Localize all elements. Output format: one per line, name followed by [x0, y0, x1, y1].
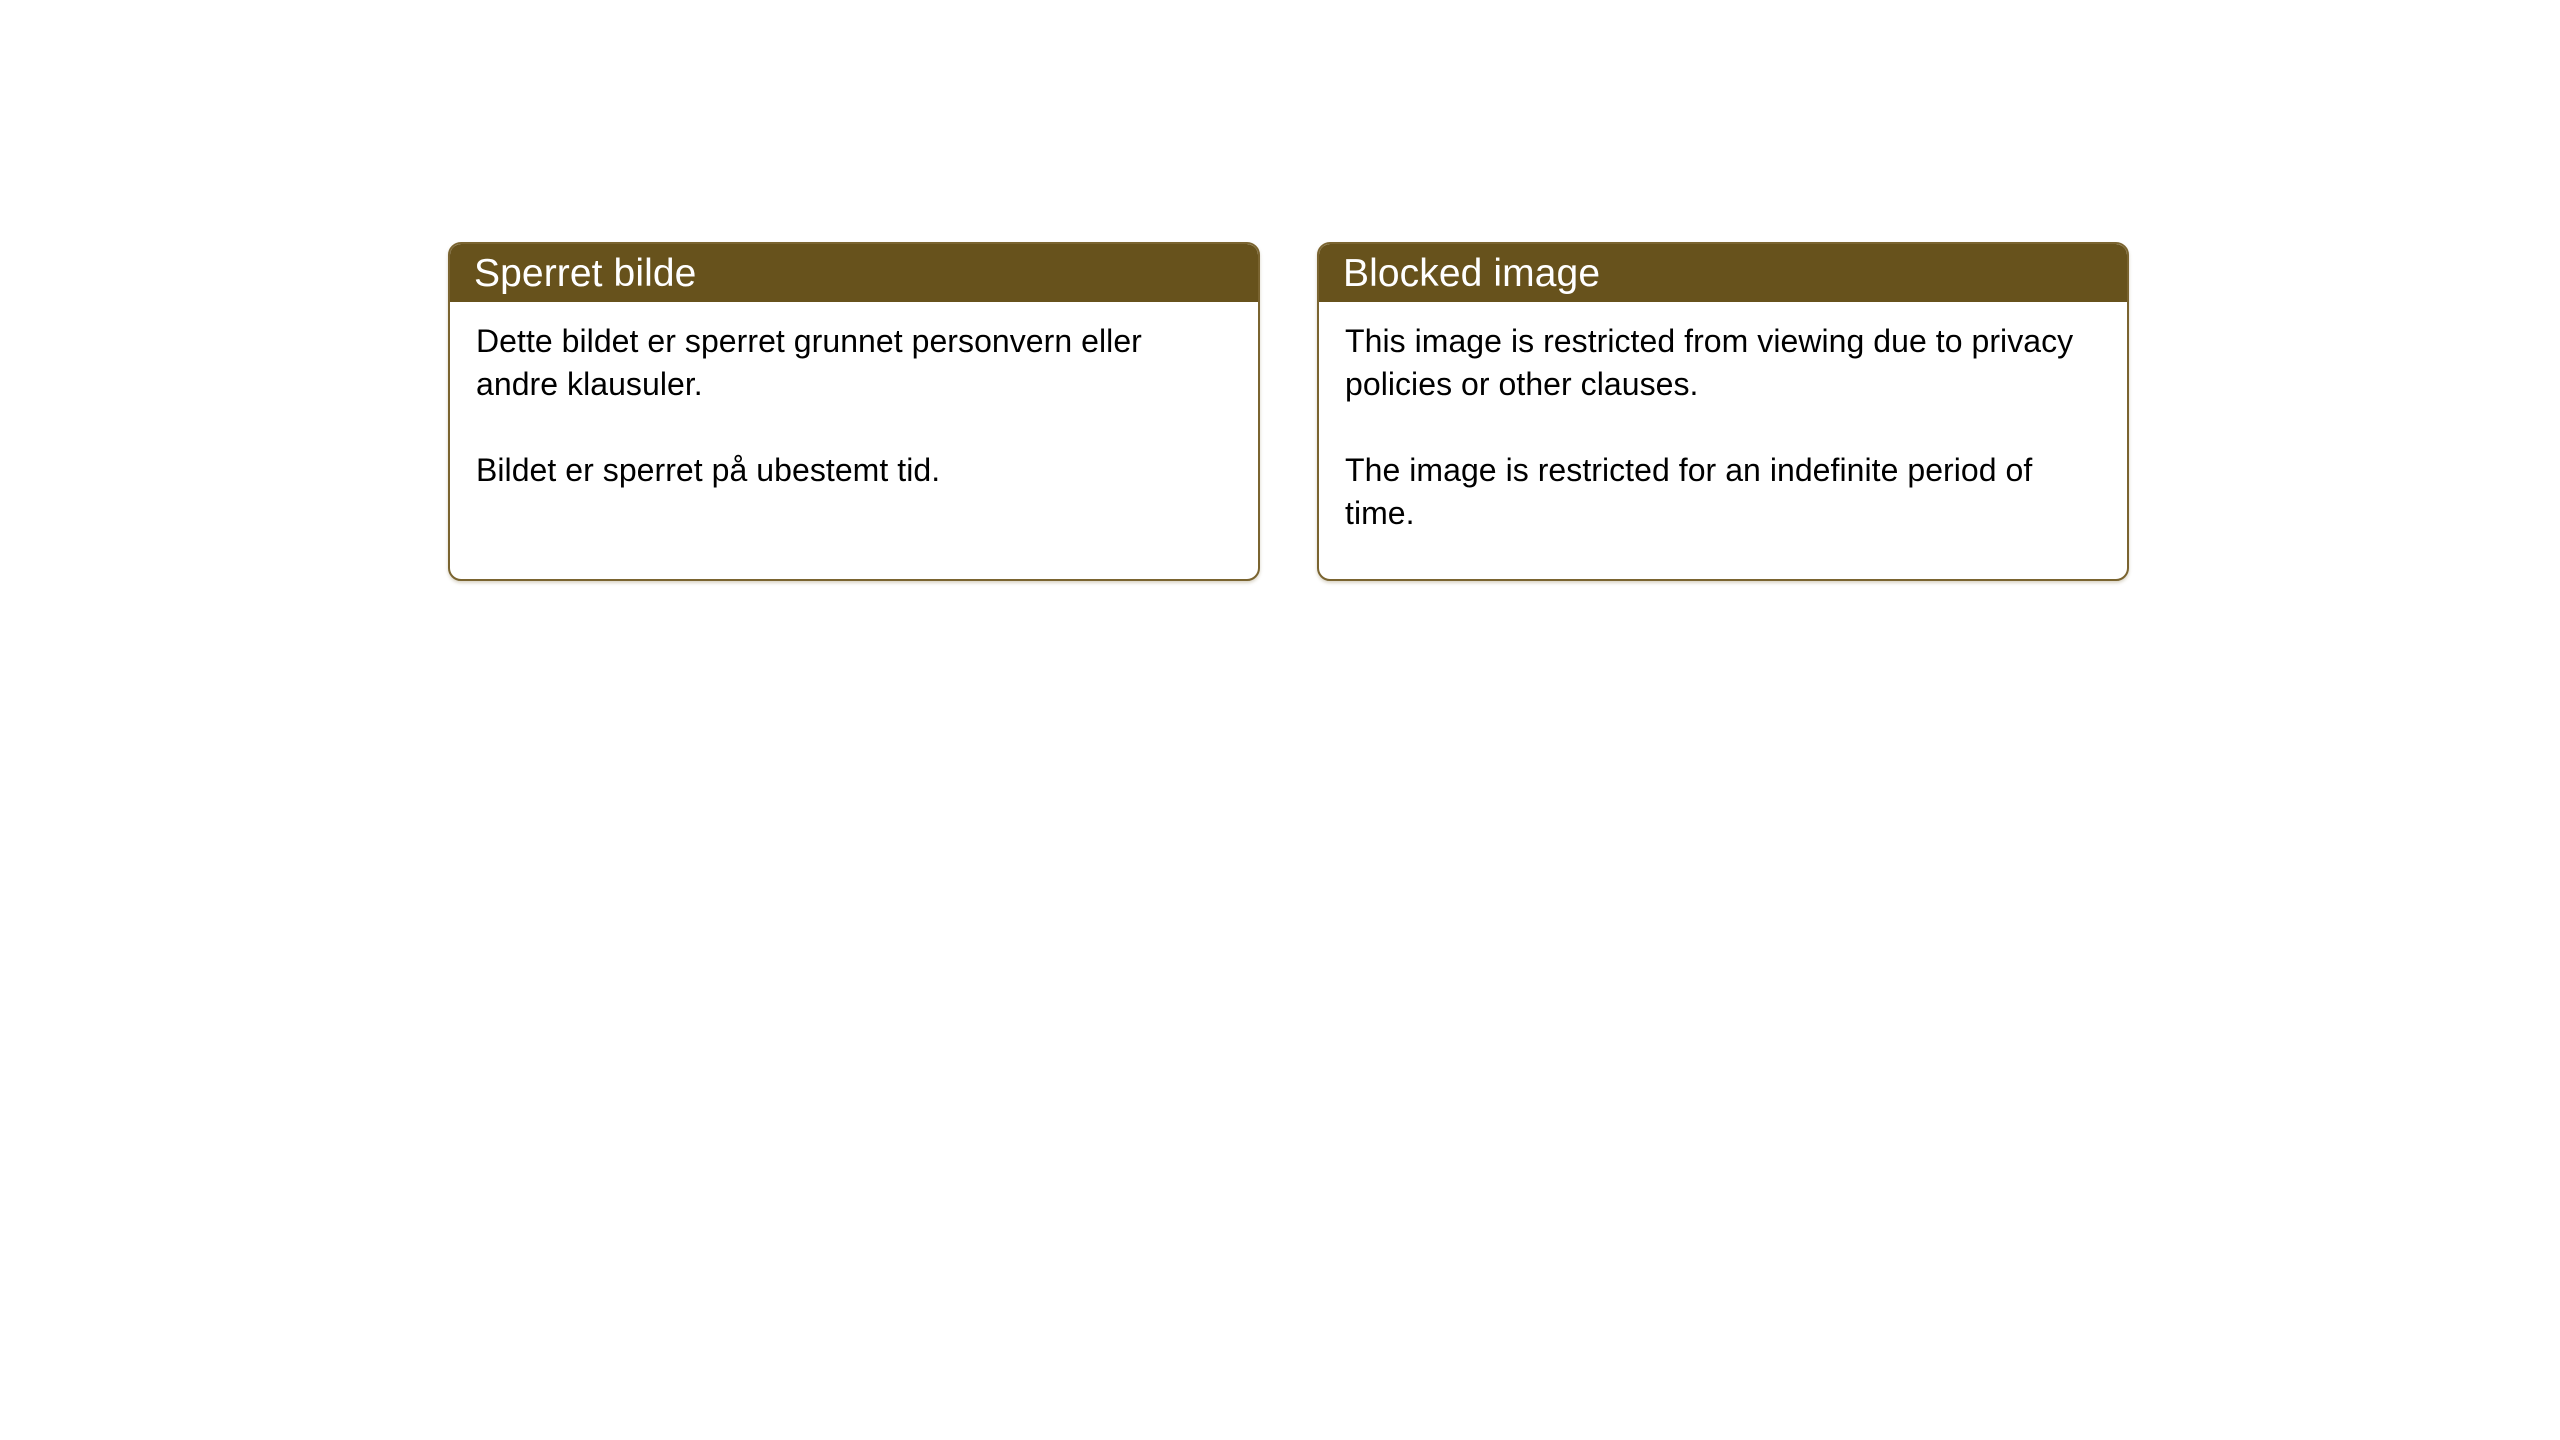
notice-paragraph-duration-english: The image is restricted for an indefinit… — [1345, 449, 2101, 535]
notice-header-norwegian: Sperret bilde — [450, 244, 1258, 302]
notice-paragraph-reason-norwegian: Dette bildet er sperret grunnet personve… — [476, 320, 1176, 406]
blocked-image-notice-norwegian: Sperret bilde Dette bildet er sperret gr… — [448, 242, 1260, 581]
page-canvas: Sperret bilde Dette bildet er sperret gr… — [0, 0, 2560, 1440]
blocked-image-notice-english: Blocked image This image is restricted f… — [1317, 242, 2129, 581]
notice-paragraph-reason-english: This image is restricted from viewing du… — [1345, 320, 2101, 406]
notice-header-english: Blocked image — [1319, 244, 2127, 302]
notice-body-english: This image is restricted from viewing du… — [1319, 302, 2127, 535]
notice-body-norwegian: Dette bildet er sperret grunnet personve… — [450, 302, 1258, 492]
notice-paragraph-duration-norwegian: Bildet er sperret på ubestemt tid. — [476, 449, 1176, 492]
notice-title-english: Blocked image — [1343, 254, 1600, 293]
notice-title-norwegian: Sperret bilde — [474, 254, 696, 293]
